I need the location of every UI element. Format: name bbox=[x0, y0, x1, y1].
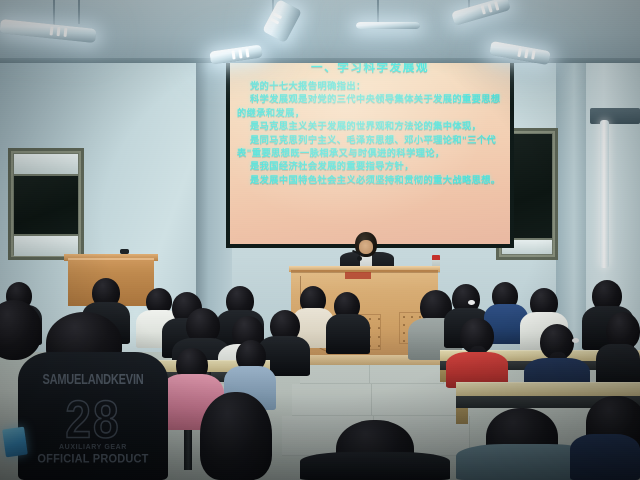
jacket-subtext-2: OFFICIAL PRODUCT bbox=[18, 452, 168, 465]
slide-line-1: 科学发展观是对党的三代中央领导集体关于发展的重要思想的继承和发展， bbox=[237, 93, 503, 120]
lamp-rod-4 bbox=[377, 0, 379, 22]
wall-light-hood bbox=[590, 108, 640, 124]
blackboard-left-bottom-strip bbox=[14, 236, 78, 256]
student-hair-tie bbox=[468, 300, 475, 305]
microphone bbox=[357, 256, 362, 261]
slide-line-4: 是我国经济社会发展的重要指导方针， bbox=[237, 160, 503, 173]
wall-fluorescent-tube bbox=[600, 120, 609, 268]
student-hair-tie bbox=[572, 338, 579, 343]
phone-screen bbox=[2, 427, 28, 458]
slide-line-3: 是同马克思列宁主义、毛泽东思想、邓小平理论和"三个代表"重要思想既一脉相承又与时… bbox=[237, 134, 503, 161]
slide-line-2: 是马克思主义关于发展的世界观和方法论的集中体现， bbox=[237, 120, 503, 133]
lamp-rod-1 bbox=[53, 0, 55, 26]
student-body bbox=[326, 314, 370, 354]
student-jacket: SAMUELANDKEVIN 28 AUXILIARY GEAR OFFICIA… bbox=[18, 352, 168, 480]
blackboard-left-glass bbox=[14, 176, 78, 234]
lamp-rod-2 bbox=[78, 0, 80, 24]
student-head-foreground bbox=[200, 392, 272, 480]
left-lectern-microphone bbox=[120, 249, 129, 254]
projection-screen: 一、学习科学发展观 党的十七大报告明确指出： 科学发展观是对党的三代中央领导集体… bbox=[230, 52, 510, 244]
student-body bbox=[300, 452, 450, 480]
podium-red-label bbox=[345, 272, 371, 279]
jacket-subtext-1: AUXILIARY GEAR bbox=[18, 444, 168, 451]
water-bottle-cap bbox=[432, 255, 440, 260]
speaker-face bbox=[359, 240, 373, 254]
slide-body: 党的十七大报告明确指出： 科学发展观是对党的三代中央领导集体关于发展的重要思想的… bbox=[237, 80, 503, 187]
wall-pillar-right bbox=[556, 58, 586, 358]
lecture-hall-photo: 一、学习科学发展观 党的十七大报告明确指出： 科学发展观是对党的三代中央领导集体… bbox=[0, 0, 640, 480]
slide-line-5: 是发展中国特色社会主义必须坚持和贯彻的重大战略思想。 bbox=[237, 174, 503, 187]
jacket-name-text: SAMUELANDKEVIN bbox=[18, 372, 168, 388]
jacket-number: 28 bbox=[18, 388, 168, 450]
blackboard-left-top-strip bbox=[14, 154, 78, 174]
ceiling-lamp-3 bbox=[356, 22, 420, 29]
student-body bbox=[570, 434, 640, 480]
slide-line-0: 党的十七大报告明确指出： bbox=[237, 80, 503, 93]
